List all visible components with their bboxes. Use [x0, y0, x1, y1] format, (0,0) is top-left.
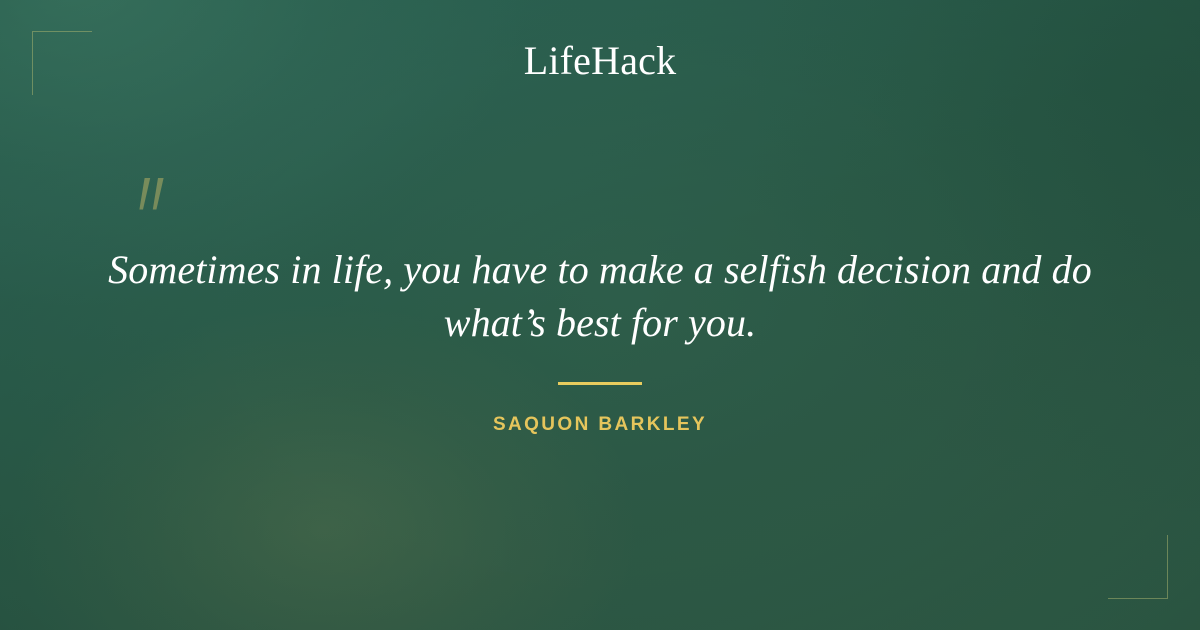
- quote-card: LifeHack Sometimes in life, you have to …: [0, 0, 1200, 630]
- quote-line: Sometimes in life, you have to make a se…: [80, 243, 1120, 296]
- quote-author: SAQUON BARKLEY: [0, 413, 1200, 437]
- quotation-mark-icon: [132, 176, 174, 216]
- divider-rule: [558, 382, 642, 385]
- quote-line: what’s best for you.: [80, 296, 1120, 349]
- quote-block: Sometimes in life, you have to make a se…: [80, 243, 1120, 349]
- brand-logo: LifeHack: [0, 38, 1200, 84]
